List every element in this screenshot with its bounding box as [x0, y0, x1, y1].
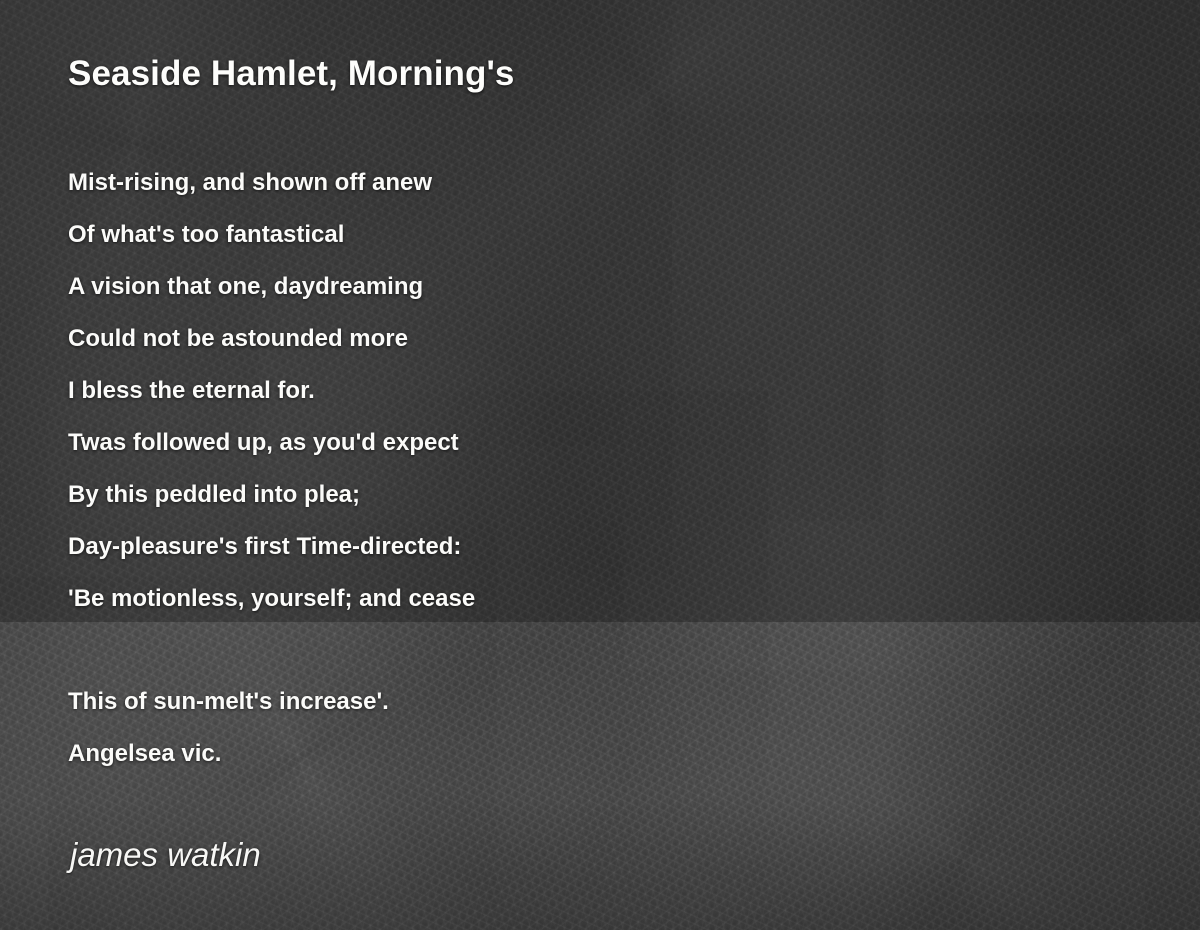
poem-image-card: Seaside Hamlet, Morning's Mist-rising, a… [0, 0, 1200, 930]
poem-stanza-one: Mist-rising, and shown off anew Of what'… [68, 157, 968, 625]
poem-line: Day-pleasure's first Time-directed: [68, 521, 968, 573]
poem-line: Mist-rising, and shown off anew [68, 157, 968, 209]
poem-line: This of sun-melt's increase'. [68, 676, 968, 728]
poem-line: Of what's too fantastical [68, 209, 968, 261]
poem-line: Angelsea vic. [68, 728, 968, 780]
poem-author-signature: james watkin [70, 836, 261, 874]
poem-line: Could not be astounded more [68, 313, 968, 365]
poem-line: 'Be motionless, yourself; and cease [68, 573, 968, 625]
poem-content: Seaside Hamlet, Morning's Mist-rising, a… [0, 0, 1200, 930]
poem-line: A vision that one, daydreaming [68, 261, 968, 313]
poem-line: I bless the eternal for. [68, 365, 968, 417]
poem-stanza-two: This of sun-melt's increase'. Angelsea v… [68, 676, 968, 780]
poem-title: Seaside Hamlet, Morning's [68, 54, 515, 94]
poem-line: Twas followed up, as you'd expect [68, 417, 968, 469]
poem-line: By this peddled into plea; [68, 469, 968, 521]
